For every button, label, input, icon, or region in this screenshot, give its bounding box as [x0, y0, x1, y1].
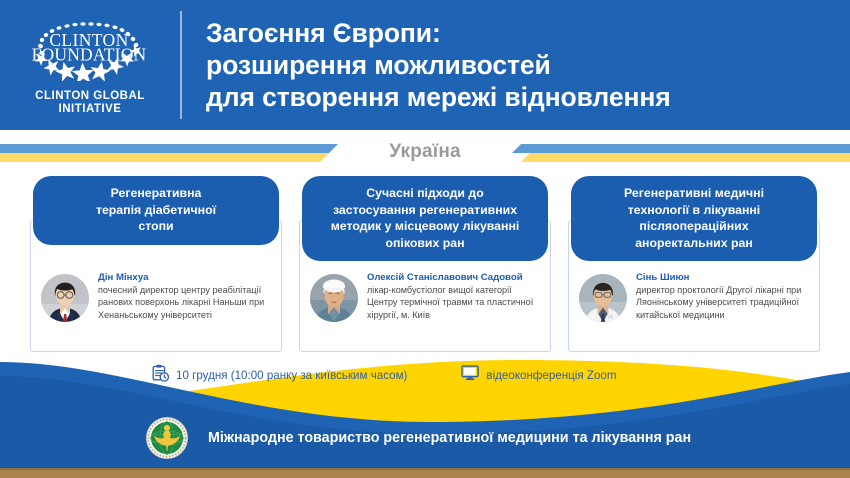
page-title: Загоєння Європи: розширення можливостей … [206, 17, 681, 113]
session-title-line: методик у місцевому лікуванні [309, 218, 541, 235]
event-platform: відеоконференція Zoom [461, 365, 616, 386]
session-card[interactable]: Регенеративні медичні технології в лікув… [568, 176, 820, 352]
avatar [41, 274, 89, 322]
country-band: Україна [0, 130, 850, 174]
event-date-text: 10 грудня (10:00 ранку за київським часо… [176, 369, 407, 382]
avatar [579, 274, 627, 322]
session-card[interactable]: Сучасні підходи до застосування регенера… [299, 176, 551, 352]
bottom-edge-shadow [0, 468, 850, 470]
society-emblem-icon [146, 417, 188, 459]
event-platform-text: відеоконференція Zoom [486, 369, 616, 382]
speaker-name: Олексій Станіславович Садовой [367, 272, 542, 284]
title-line-3: для створення мережі відновлення [206, 81, 671, 113]
cgi-label-line2: INITIATIVE [59, 103, 122, 116]
avatar [310, 274, 358, 322]
session-title-line: Сучасні підходи до [309, 185, 541, 202]
country-label: Україна [0, 141, 850, 163]
session-cards: Регенеративна терапія діабетичної стопи [0, 176, 850, 356]
speaker-description: директор проктології Другої лікарні при … [636, 284, 811, 321]
event-info-row: 10 грудня (10:00 ранку за київським часо… [0, 362, 850, 388]
organization-name: Міжнародне товариство регенеративної мед… [208, 430, 691, 446]
clinton-foundation-logo: CLINTON FOUNDATION CLINTON GLOBAL INITIA… [0, 0, 180, 130]
speaker-description: лікар-комбустіолог вищої категорії Центр… [367, 284, 542, 321]
footer-bar: Міжнародне товариство регенеративної мед… [0, 414, 850, 462]
session-title-line: післяопераційних [578, 218, 810, 235]
speaker-name: Дін Мінхуа [98, 272, 273, 284]
session-title-line: Регенеративна [40, 185, 272, 202]
calendar-clock-icon [152, 364, 169, 387]
session-title-line: аноректальних ран [578, 235, 810, 252]
header-divider [180, 11, 182, 119]
session-title-line: Регенеративні медичні [578, 185, 810, 202]
poster: CLINTON FOUNDATION CLINTON GLOBAL INITIA… [0, 0, 850, 478]
cgi-label-line1: CLINTON GLOBAL [35, 90, 145, 103]
title-line-2: розширення можливостей [206, 49, 671, 81]
foundation-wordmark: FOUNDATION [32, 44, 147, 64]
session-card[interactable]: Регенеративна терапія діабетичної стопи [30, 176, 282, 352]
event-date: 10 грудня (10:00 ранку за київським часо… [152, 364, 407, 387]
speaker-description: почесний директор центру реабілітації ра… [98, 284, 273, 321]
header: CLINTON FOUNDATION CLINTON GLOBAL INITIA… [0, 0, 850, 130]
monitor-icon [461, 365, 479, 386]
session-title-line: технології в лікуванні [578, 202, 810, 219]
session-title-line: опікових ран [309, 235, 541, 252]
session-title-line: стопи [40, 218, 272, 235]
session-title-line: застосування регенеративних [309, 202, 541, 219]
session-title: Регенеративна терапія діабетичної стопи [33, 176, 279, 245]
session-title: Сучасні підходи до застосування регенера… [302, 176, 548, 261]
title-line-1: Загоєння Європи: [206, 17, 671, 49]
clinton-foundation-mark-icon: CLINTON FOUNDATION [26, 19, 154, 81]
session-title: Регенеративні медичні технології в лікув… [571, 176, 817, 261]
speaker-name: Сінь Шиюн [636, 272, 811, 284]
session-title-line: терапія діабетичної [40, 202, 272, 219]
